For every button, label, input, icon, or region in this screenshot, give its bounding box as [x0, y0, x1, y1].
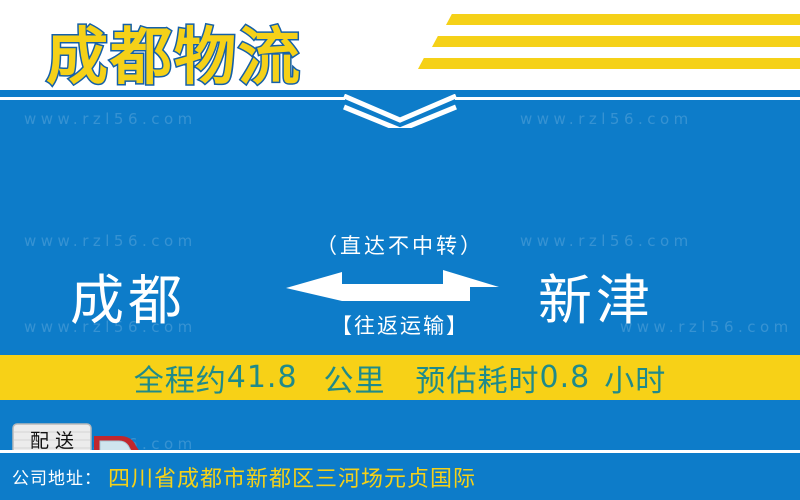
- poster-body: www.rzl56.com www.rzl56.com www.rzl56.co…: [0, 90, 800, 450]
- direct-route-label: （直达不中转）: [0, 230, 800, 260]
- logistics-poster: 成都物流 www.rzl56.com www.rzl56.com www.rzl…: [0, 0, 800, 500]
- metrics-bar: 全程约 41.8 公里 预估耗时 0.8 小时: [0, 355, 800, 400]
- roundtrip-label: 【往返运输】: [0, 310, 800, 340]
- truck-box-line1: 配 送: [30, 430, 74, 452]
- address-label: 公司地址：: [12, 464, 102, 489]
- poster-footer: 公司地址： 四川省成都市新都区三河场元贞国际: [0, 450, 800, 500]
- duration-value: 0.8: [540, 360, 591, 395]
- page-title: 成都物流: [46, 6, 302, 96]
- poster-header: 成都物流: [0, 0, 800, 90]
- divider-line-left: [0, 97, 345, 100]
- address-value: 四川省成都市新都区三河场元贞国际: [108, 461, 476, 493]
- distance-value: 41.8: [227, 360, 298, 395]
- bidirectional-arrow-icon: [285, 266, 500, 308]
- stripe-3: [418, 58, 800, 69]
- duration-prefix: 预估耗时: [416, 356, 540, 400]
- duration-unit: 小时: [604, 356, 666, 400]
- stripe-2: [432, 36, 800, 47]
- distance-unit: 公里: [324, 356, 386, 400]
- watermark: www.rzl56.com: [24, 110, 197, 128]
- watermark: www.rzl56.com: [520, 110, 693, 128]
- stripe-1: [446, 14, 800, 25]
- decorative-stripes: [410, 14, 800, 76]
- distance-prefix: 全程约: [134, 356, 227, 400]
- divider-line-right: [455, 97, 800, 100]
- double-chevron-down-icon: [338, 94, 462, 128]
